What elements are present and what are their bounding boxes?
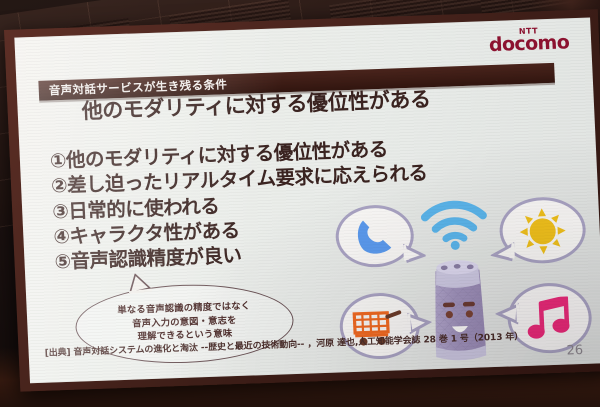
- projection-screen: NTT docomo 音声対話サービスが生き残る条件 他のモダリティに対する優位…: [4, 9, 600, 395]
- bubble-tail: [490, 240, 515, 263]
- page-number: 26: [566, 343, 583, 359]
- callout-tail: [125, 273, 156, 292]
- screenshot-stage: NTT docomo 音声対話サービスが生き残る条件 他のモダリティに対する優位…: [0, 0, 600, 407]
- phone-icon: [353, 216, 397, 257]
- bubble-tail: [403, 241, 426, 264]
- docomo-logo: NTT docomo: [488, 26, 569, 55]
- speaker-character: [427, 253, 492, 365]
- slide-surface: NTT docomo 音声対話サービスが生き残る条件 他のモダリティに対する優位…: [14, 18, 600, 384]
- bubble-tail: [495, 302, 520, 327]
- docomo-wordmark: docomo: [488, 31, 569, 56]
- smart-speaker-illustration: [334, 194, 600, 375]
- sun-icon: [514, 206, 572, 256]
- wifi-icon: [418, 197, 490, 251]
- bubble-cart: [338, 292, 421, 361]
- bubble-phone: [334, 204, 415, 269]
- bubble-sun: [498, 196, 587, 265]
